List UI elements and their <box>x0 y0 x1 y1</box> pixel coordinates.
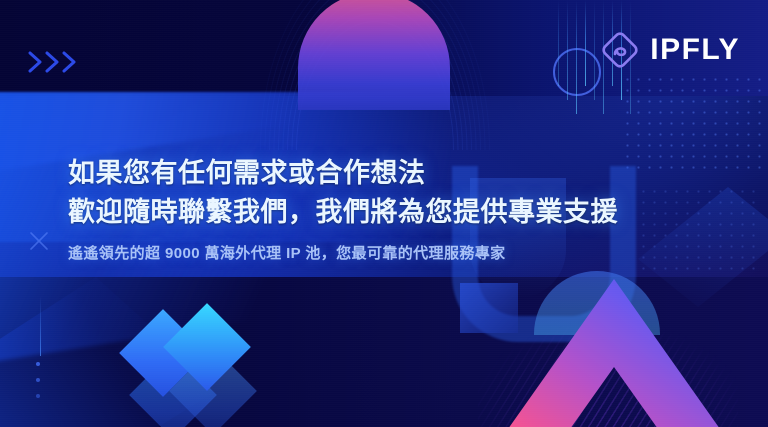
headline-line-2: 歡迎隨時聯繫我們，我們將為您提供專業支援 <box>68 193 708 232</box>
subheadline: 遙遙領先的超 9000 萬海外代理 IP 池，您最可靠的代理服務專家 <box>68 242 708 263</box>
x-cross-icon <box>28 230 50 252</box>
headline-line-1: 如果您有任何需求或合作想法 <box>68 154 708 193</box>
copy-block: 如果您有任何需求或合作想法 歡迎隨時聯繫我們，我們將為您提供專業支援 遙遙領先的… <box>68 154 708 263</box>
diamond-cluster-icon <box>132 316 242 422</box>
gradient-arch-icon <box>298 0 450 110</box>
drop-dots-decoration <box>36 362 45 404</box>
drop-line-decoration <box>40 296 41 356</box>
triple-chevron-right-icon <box>28 50 88 74</box>
big-chevron-up-icon <box>508 279 720 427</box>
ipfly-diamond-logo-icon <box>600 30 640 70</box>
brand-logo[interactable]: IPFLY <box>600 30 740 70</box>
promo-banner: IPFLY 如果您有任何需求或合作想法 歡迎隨時聯繫我們，我們將為您提供專業支援… <box>0 0 768 427</box>
page-title: 如果您有任何需求或合作想法 歡迎隨時聯繫我們，我們將為您提供專業支援 <box>68 154 708 232</box>
brand-name: IPFLY <box>650 35 740 65</box>
